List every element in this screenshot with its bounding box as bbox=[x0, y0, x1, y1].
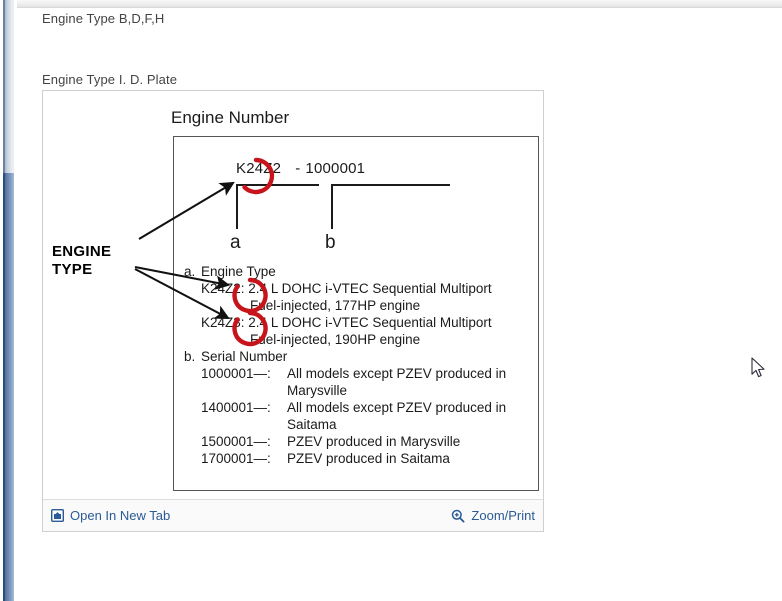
serial-desc-1700001: PZEV produced in Saitama bbox=[287, 450, 450, 467]
spec-key-a: a. bbox=[184, 263, 201, 280]
open-in-new-tab-label: Open In New Tab bbox=[70, 508, 170, 523]
specification-list: a. Engine Type K24Z2: 2.4 L DOHC i-VTEC … bbox=[184, 263, 536, 467]
bracket-line-a-vertical bbox=[236, 184, 238, 229]
figure-caption-label: Engine Type I. D. Plate bbox=[42, 72, 177, 87]
engine-serial-text: 1000001 bbox=[305, 160, 365, 177]
diagram-box: K24Z2-1000001 a b a. Engine Type K24Z2: … bbox=[173, 136, 539, 491]
spec-key-b: b. bbox=[184, 348, 201, 365]
serial-range-1500001: 1500001—: bbox=[201, 433, 287, 450]
engine-number-dash: - bbox=[281, 160, 305, 177]
engine-type-callout-line1: ENGINE bbox=[52, 243, 111, 261]
engine-number-line: K24Z2-1000001 bbox=[236, 160, 365, 177]
open-in-new-tab-button[interactable]: Open In New Tab bbox=[51, 508, 170, 523]
engine-code-text: K24Z2 bbox=[236, 160, 281, 177]
left-panel-rail[interactable] bbox=[0, 0, 17, 601]
serial-entry: 1400001—: All models except PZEV produce… bbox=[184, 399, 536, 416]
mouse-cursor bbox=[751, 357, 767, 379]
figure-stage: Engine Number K24Z2-1000001 a b a. Engin… bbox=[43, 91, 543, 500]
serial-desc-1500001: PZEV produced in Marysville bbox=[287, 433, 460, 450]
bracket-line-b-horizontal bbox=[331, 184, 450, 186]
figure-toolbar: Open In New Tab Zoom/Print bbox=[43, 499, 543, 531]
magnifier-plus-icon bbox=[451, 509, 465, 523]
engine-desc-k24z2-cont: Fuel-injected, 177HP engine bbox=[184, 297, 536, 314]
serial-range-1000001: 1000001—: bbox=[201, 365, 287, 382]
serial-range-1400001: 1400001—: bbox=[201, 399, 287, 416]
spec-item-heading: a. Engine Type bbox=[184, 263, 536, 280]
engine-desc-k24z3: 2.4 L DOHC i-VTEC Sequential Multiport bbox=[248, 314, 491, 331]
open-in-new-window-icon bbox=[51, 509, 64, 522]
marker-label-b: b bbox=[325, 232, 336, 254]
spec-heading-engine-type: Engine Type bbox=[201, 263, 276, 280]
engine-desc-k24z2: 2.4 L DOHC i-VTEC Sequential Multiport bbox=[248, 280, 491, 297]
bracket-line-a-horizontal bbox=[236, 184, 319, 186]
engine-type-callout-line2: TYPE bbox=[52, 261, 111, 279]
serial-desc-1000001: All models except PZEV produced in bbox=[287, 365, 506, 382]
top-chrome-strip bbox=[0, 0, 782, 8]
zoom-print-button[interactable]: Zoom/Print bbox=[451, 508, 535, 523]
serial-range-1700001: 1700001—: bbox=[201, 450, 287, 467]
section-label: Engine Type B,D,F,H bbox=[42, 11, 164, 26]
engine-type-entry: K24Z2: 2.4 L DOHC i-VTEC Sequential Mult… bbox=[184, 280, 536, 297]
engine-type-entry: K24Z3: 2.4 L DOHC i-VTEC Sequential Mult… bbox=[184, 314, 536, 331]
engine-code-k24z3: K24Z3: bbox=[201, 314, 245, 331]
serial-entry: 1000001—: All models except PZEV produce… bbox=[184, 365, 536, 382]
spec-item-heading: b. Serial Number bbox=[184, 348, 536, 365]
engine-desc-k24z3-cont: Fuel-injected, 190HP engine bbox=[184, 331, 536, 348]
marker-label-a: a bbox=[230, 232, 241, 254]
serial-desc-1400001-cont: Saitama bbox=[184, 416, 536, 433]
serial-entry: 1500001—: PZEV produced in Marysville bbox=[184, 433, 536, 450]
serial-desc-1000001-cont: Marysville bbox=[184, 382, 536, 399]
bracket-line-b-vertical bbox=[331, 184, 333, 229]
diagram-title: Engine Number bbox=[171, 108, 289, 128]
rail-edge-lower bbox=[3, 173, 5, 601]
spec-heading-serial-number: Serial Number bbox=[201, 348, 287, 365]
serial-desc-1400001: All models except PZEV produced in bbox=[287, 399, 506, 416]
engine-type-callout: ENGINE TYPE bbox=[52, 243, 111, 279]
figure-panel: Engine Number K24Z2-1000001 a b a. Engin… bbox=[42, 90, 544, 532]
zoom-print-label: Zoom/Print bbox=[471, 508, 535, 523]
serial-entry: 1700001—: PZEV produced in Saitama bbox=[184, 450, 536, 467]
engine-code-k24z2: K24Z2: bbox=[201, 280, 245, 297]
rail-edge-upper bbox=[3, 0, 5, 173]
